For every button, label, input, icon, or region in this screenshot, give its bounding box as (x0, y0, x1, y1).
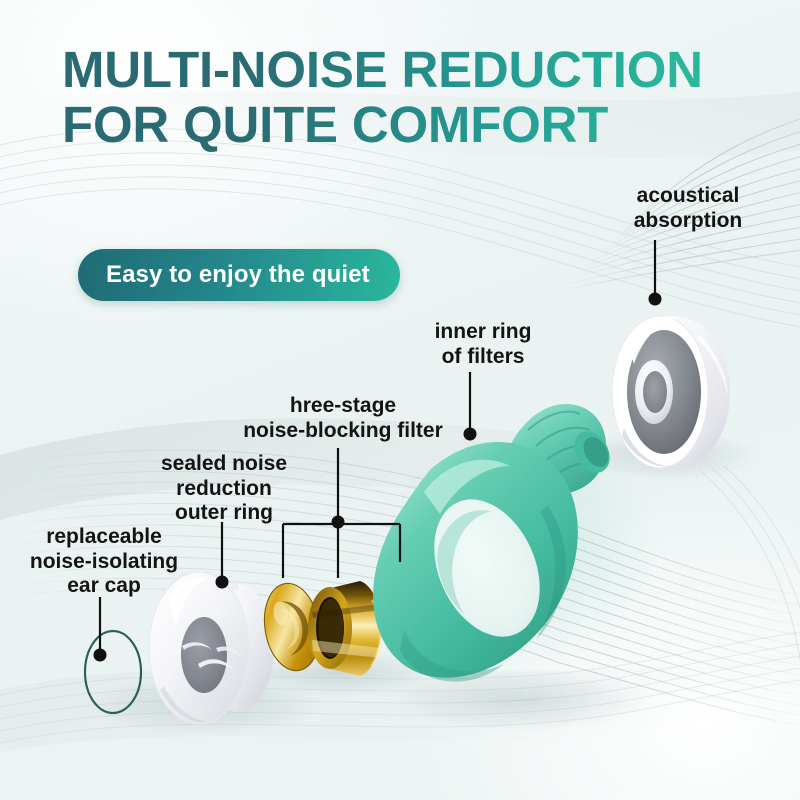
callout-inner-ring-of-filters: inner ring of filters (398, 320, 568, 369)
leader-dot-acoustical (649, 293, 662, 306)
callout-acoustical-absorption: acoustical absorption (588, 184, 788, 233)
callout-sealed-noise-reduction-outer-ring: sealed noise reduction outer ring (138, 452, 310, 526)
leader-dot-inner-ring (464, 428, 477, 441)
leader-dot-replaceable (94, 649, 107, 662)
leader-dot-three-stage (332, 516, 345, 529)
leader-dot-sealed (216, 576, 229, 589)
infographic-poster: MULTI-NOISE REDUCTION FOR QUITE COMFORT … (0, 0, 800, 800)
three-stage-bracket (283, 524, 400, 578)
callout-replaceable-noise-isolating-ear-cap: replaceable noise-isolating ear cap (10, 525, 198, 599)
callout-three-stage-noise-blocking-filter: hree-stage noise-blocking filter (228, 394, 458, 443)
